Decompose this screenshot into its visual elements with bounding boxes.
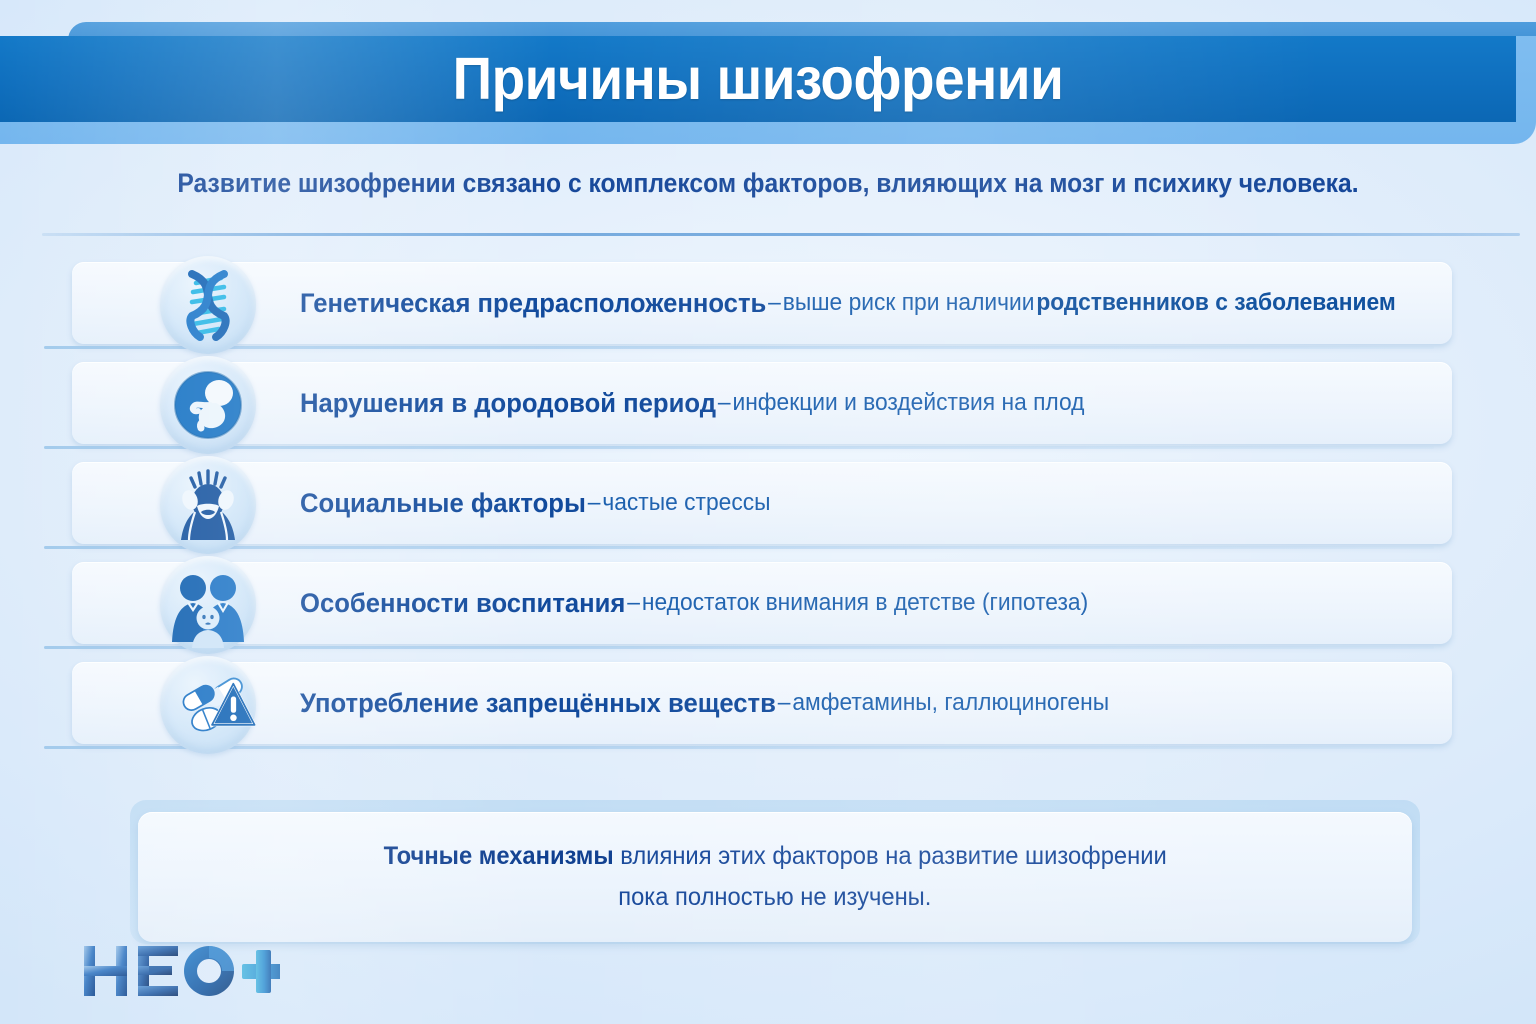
factor-text: Генетическая предрасположенность – выше … xyxy=(300,262,1396,344)
list-item: Социальные факторы – частые стрессы xyxy=(0,462,1536,558)
header: Причины шизофрении xyxy=(0,22,1536,134)
factor-text: Социальные факторы – частые стрессы xyxy=(300,462,771,544)
conclusion-line-1-rest: влияния этих факторов на развитие шизофр… xyxy=(613,842,1166,870)
factor-desc: амфетамины, галлюциногены xyxy=(792,689,1109,717)
family-icon xyxy=(160,556,256,654)
pills-warning-icon xyxy=(160,656,256,754)
list-item: Генетическая предрасположенность – выше … xyxy=(0,262,1536,358)
dna-helix-icon xyxy=(160,256,256,354)
factor-dash: – xyxy=(778,689,791,717)
card-underline xyxy=(44,646,1434,649)
page-title: Причины шизофрении xyxy=(53,36,1463,122)
factor-text: Употребление запрещённых веществ – амфет… xyxy=(300,662,1109,744)
factor-dash: – xyxy=(768,289,781,317)
card-underline xyxy=(44,346,1434,349)
list-item: Употребление запрещённых веществ – амфет… xyxy=(0,662,1536,758)
factor-title: Социальные факторы xyxy=(300,488,586,519)
neo-plus-logo xyxy=(80,940,280,1002)
factor-dash: – xyxy=(718,389,731,417)
factor-title: Нарушения в дородовой период xyxy=(300,388,716,419)
conclusion-line-1: Точные механизмы влияния этих факторов н… xyxy=(383,842,1166,871)
list-item: Нарушения в дородовой период – инфекции … xyxy=(0,362,1536,458)
conclusion-box: Точные механизмы влияния этих факторов н… xyxy=(138,812,1412,942)
stressed-person-icon xyxy=(160,456,256,554)
header-divider xyxy=(42,233,1520,236)
card-underline xyxy=(44,546,1434,549)
card-underline xyxy=(44,446,1434,449)
factor-dash: – xyxy=(588,489,601,517)
infographic-poster: Причины шизофрении Развитие шизофрении с… xyxy=(0,0,1536,1024)
subtitle: Развитие шизофрении связано с комплексом… xyxy=(54,168,1482,199)
factor-desc: инфекции и воздействия на плод xyxy=(732,389,1084,417)
factor-title: Употребление запрещённых веществ xyxy=(300,688,776,719)
factor-dash: – xyxy=(627,589,640,617)
factor-title: Генетическая предрасположенность xyxy=(300,288,766,319)
factor-desc: частые стрессы xyxy=(602,489,770,517)
fetus-icon xyxy=(160,356,256,454)
factor-list: Генетическая предрасположенность – выше … xyxy=(0,262,1536,762)
list-item: Особенности воспитания – недостаток вним… xyxy=(0,562,1536,658)
factor-desc: выше риск при наличии xyxy=(783,289,1035,317)
conclusion-emphasis: Точные механизмы xyxy=(383,842,613,870)
factor-text: Нарушения в дородовой период – инфекции … xyxy=(300,362,1084,444)
factor-title: Особенности воспитания xyxy=(300,588,625,619)
factor-text: Особенности воспитания – недостаток вним… xyxy=(300,562,1088,644)
factor-desc-emphasis: родственников с заболеванием xyxy=(1036,289,1395,316)
factor-desc: недостаток внимания в детстве (гипотеза) xyxy=(642,589,1088,617)
conclusion-line-2: пока полностью не изучены. xyxy=(618,883,931,912)
